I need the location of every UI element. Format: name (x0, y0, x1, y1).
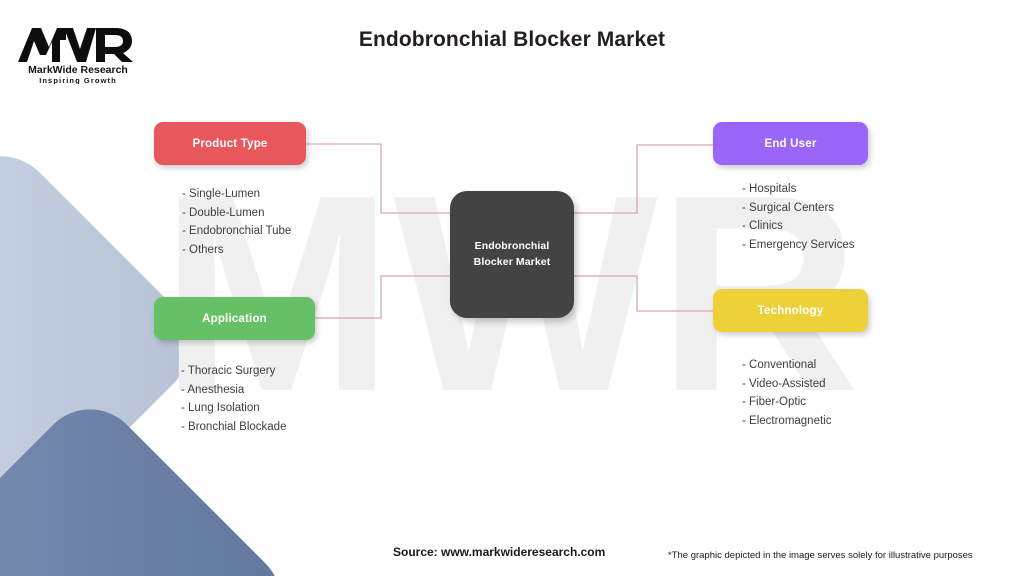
category-technology: Technology - Conventional - Video-Assist… (713, 289, 868, 431)
central-hub-label: Endobronchial Blocker Market (474, 239, 551, 269)
list-item: - Others (182, 241, 306, 260)
category-items-application: - Thoracic Surgery - Anesthesia - Lung I… (154, 362, 315, 437)
list-item: - Surgical Centers (742, 199, 868, 218)
list-item: - Bronchial Blockade (181, 418, 315, 437)
list-item: - Single-Lumen (182, 185, 306, 204)
connector-end-user (574, 145, 713, 213)
category-header-product-type[interactable]: Product Type (154, 122, 306, 165)
category-header-technology[interactable]: Technology (713, 289, 868, 332)
list-item: - Lung Isolation (181, 399, 315, 418)
list-item: - Endobronchial Tube (182, 222, 306, 241)
infographic-canvas: MWR MarkWide Research Inspiring Growth E… (0, 0, 1024, 576)
category-end-user: End User - Hospitals - Surgical Centers … (713, 122, 868, 255)
category-items-end-user: - Hospitals - Surgical Centers - Clinics… (713, 180, 868, 255)
category-items-technology: - Conventional - Video-Assisted - Fiber-… (713, 356, 868, 431)
logo-tagline: Inspiring Growth (39, 76, 117, 84)
list-item: - Video-Assisted (742, 375, 868, 394)
category-product-type: Product Type - Single-Lumen - Double-Lum… (154, 122, 306, 260)
list-item: - Electromagnetic (742, 412, 868, 431)
list-item: - Double-Lumen (182, 204, 306, 223)
list-item: - Fiber-Optic (742, 393, 868, 412)
connector-product-type (306, 144, 450, 213)
central-hub-line-1: Endobronchial (475, 240, 550, 252)
page-title: Endobronchial Blocker Market (0, 28, 1024, 52)
category-label-technology: Technology (758, 305, 824, 317)
list-item: - Emergency Services (742, 236, 868, 255)
category-label-application: Application (202, 313, 267, 325)
category-application: Application - Thoracic Surgery - Anesthe… (154, 297, 315, 437)
list-item: - Anesthesia (181, 381, 315, 400)
central-hub-node[interactable]: Endobronchial Blocker Market (450, 191, 574, 318)
list-item: - Clinics (742, 217, 868, 236)
list-item: - Conventional (742, 356, 868, 375)
category-header-end-user[interactable]: End User (713, 122, 868, 165)
footer-disclaimer: *The graphic depicted in the image serve… (668, 550, 973, 561)
footer-source[interactable]: Source: www.markwideresearch.com (393, 545, 605, 559)
category-items-product-type: - Single-Lumen - Double-Lumen - Endobron… (154, 185, 306, 260)
logo-company-name: MarkWide Research (28, 64, 128, 76)
category-label-product-type: Product Type (192, 138, 267, 150)
list-item: - Hospitals (742, 180, 868, 199)
category-header-application[interactable]: Application (154, 297, 315, 340)
list-item: - Thoracic Surgery (181, 362, 315, 381)
connector-technology (574, 276, 713, 311)
central-hub-line-2: Blocker Market (474, 256, 551, 268)
category-label-end-user: End User (764, 138, 816, 150)
connector-application (315, 276, 450, 318)
